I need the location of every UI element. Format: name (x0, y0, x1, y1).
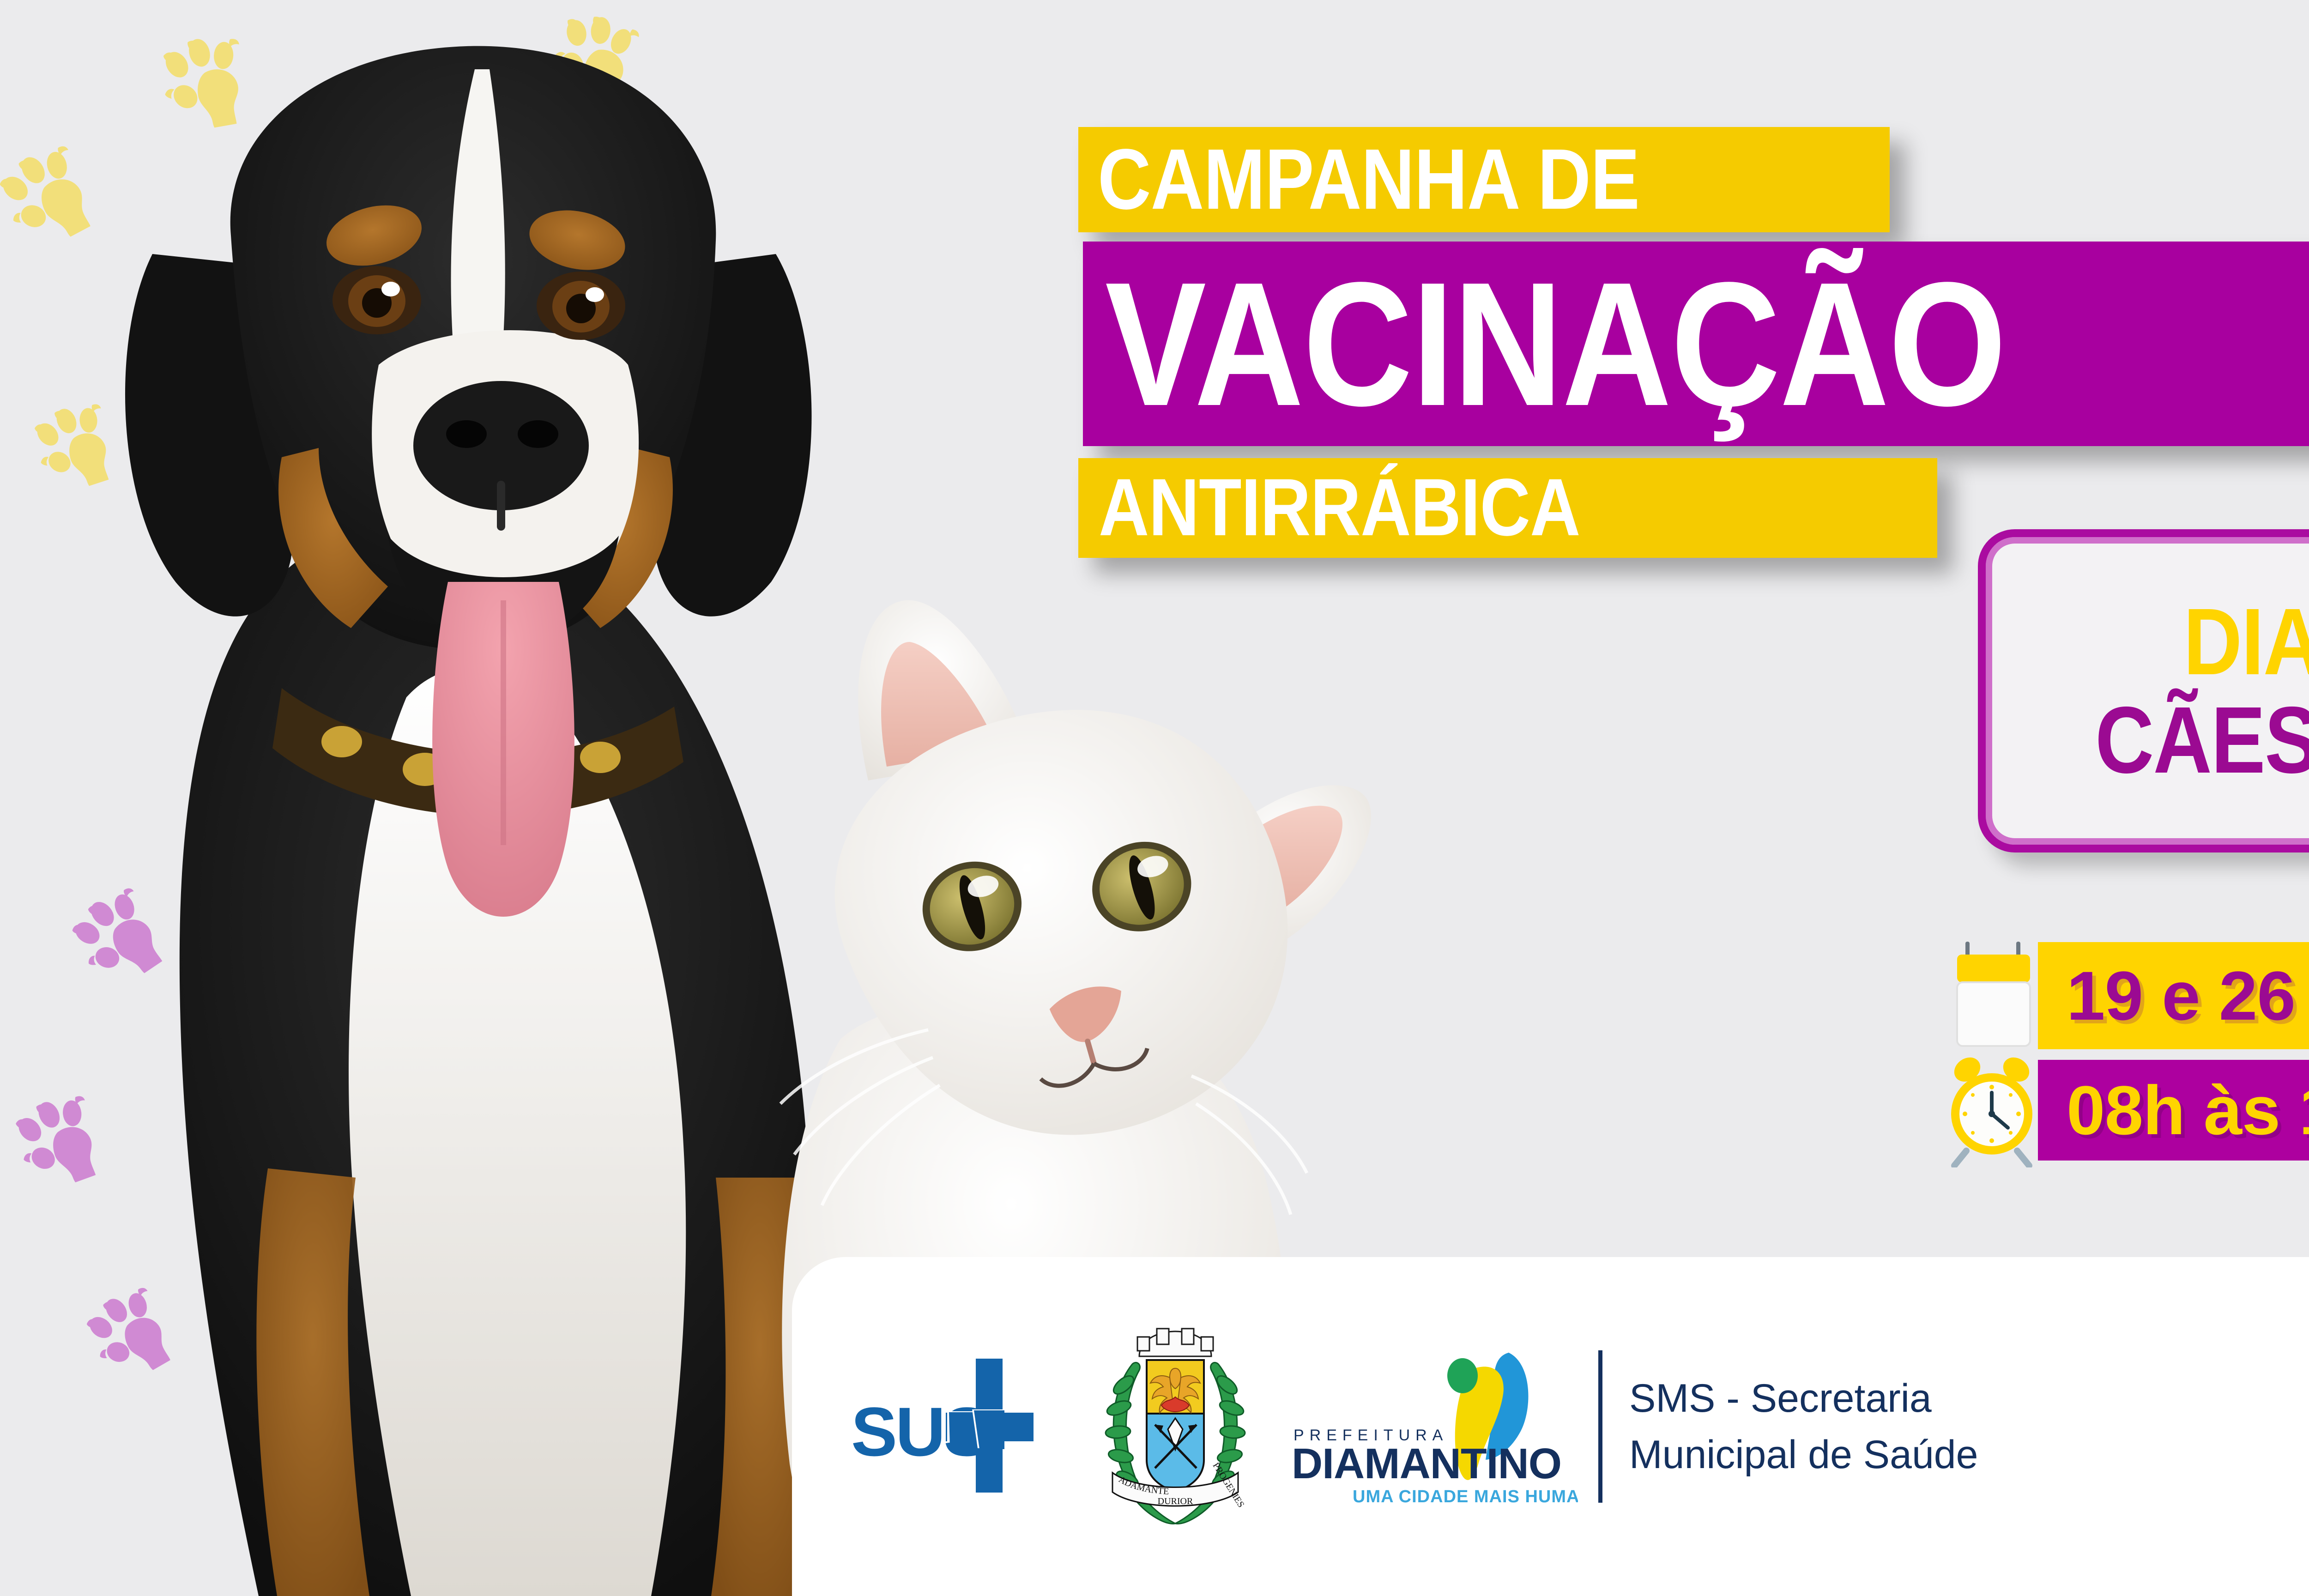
prefeitura-diamantino-logo: PREFEITURA DIAMANTINO UMA CIDADE MAIS HU… (1292, 1343, 1578, 1510)
footer-logo-panel: SUS (792, 1257, 2309, 1596)
department-line-1: SMS - Secretaria (1629, 1370, 1978, 1427)
time-bar: 08h às 16h (2038, 1060, 2309, 1161)
title-line-antirrabica-text: ANTIRRÁBICA (1099, 471, 1580, 545)
banner-canvas: CAMPANHA DE VACINAÇÃO ANTIRRÁBICA DIA D … (0, 0, 2309, 1596)
calendar-icon (1952, 940, 2035, 1051)
footer-divider (1598, 1350, 1602, 1503)
time-text: 08h às 16h (2067, 1070, 2309, 1150)
prefeitura-name: DIAMANTINO (1292, 1439, 1561, 1487)
dia-d-highlight: DIA D (2183, 594, 2309, 689)
title-line-vacinacao-text: VACINAÇÃO (1105, 263, 2006, 425)
title-line-vacinacao: VACINAÇÃO (1083, 242, 2309, 446)
title-line-antirrabica: ANTIRRÁBICA (1078, 458, 1937, 558)
title-line-campanha: CAMPANHA DE (1078, 127, 1890, 232)
department-line-2: Municipal de Saúde (1629, 1427, 1978, 1483)
dia-d-headline: DIA D PARA (2183, 594, 2309, 689)
sus-logo: SUS (851, 1350, 1059, 1503)
coat-of-arms-motto-center: DURIOR (1158, 1496, 1193, 1506)
dia-d-subject: CÃES E GATOS (2095, 693, 2309, 787)
alarm-clock-icon (1948, 1053, 2036, 1167)
dia-d-card: DIA D PARA CÃES E GATOS (1978, 529, 2309, 852)
diamantino-coat-of-arms: ADAMANTE DURIOR PROGENIES (1088, 1320, 1263, 1533)
dia-d-subject-text: CÃES E GATOS (2095, 693, 2309, 787)
title-line-campanha-text: CAMPANHA DE (1098, 140, 1639, 219)
date-bar: 19 e 26 DE AGOSTO (2038, 942, 2309, 1049)
department-name: SMS - Secretaria Municipal de Saúde (1629, 1370, 1978, 1483)
prefeitura-tagline: UMA CIDADE MAIS HUMANA (1353, 1487, 1578, 1506)
date-text: 19 e 26 DE AGOSTO (2067, 956, 2309, 1036)
